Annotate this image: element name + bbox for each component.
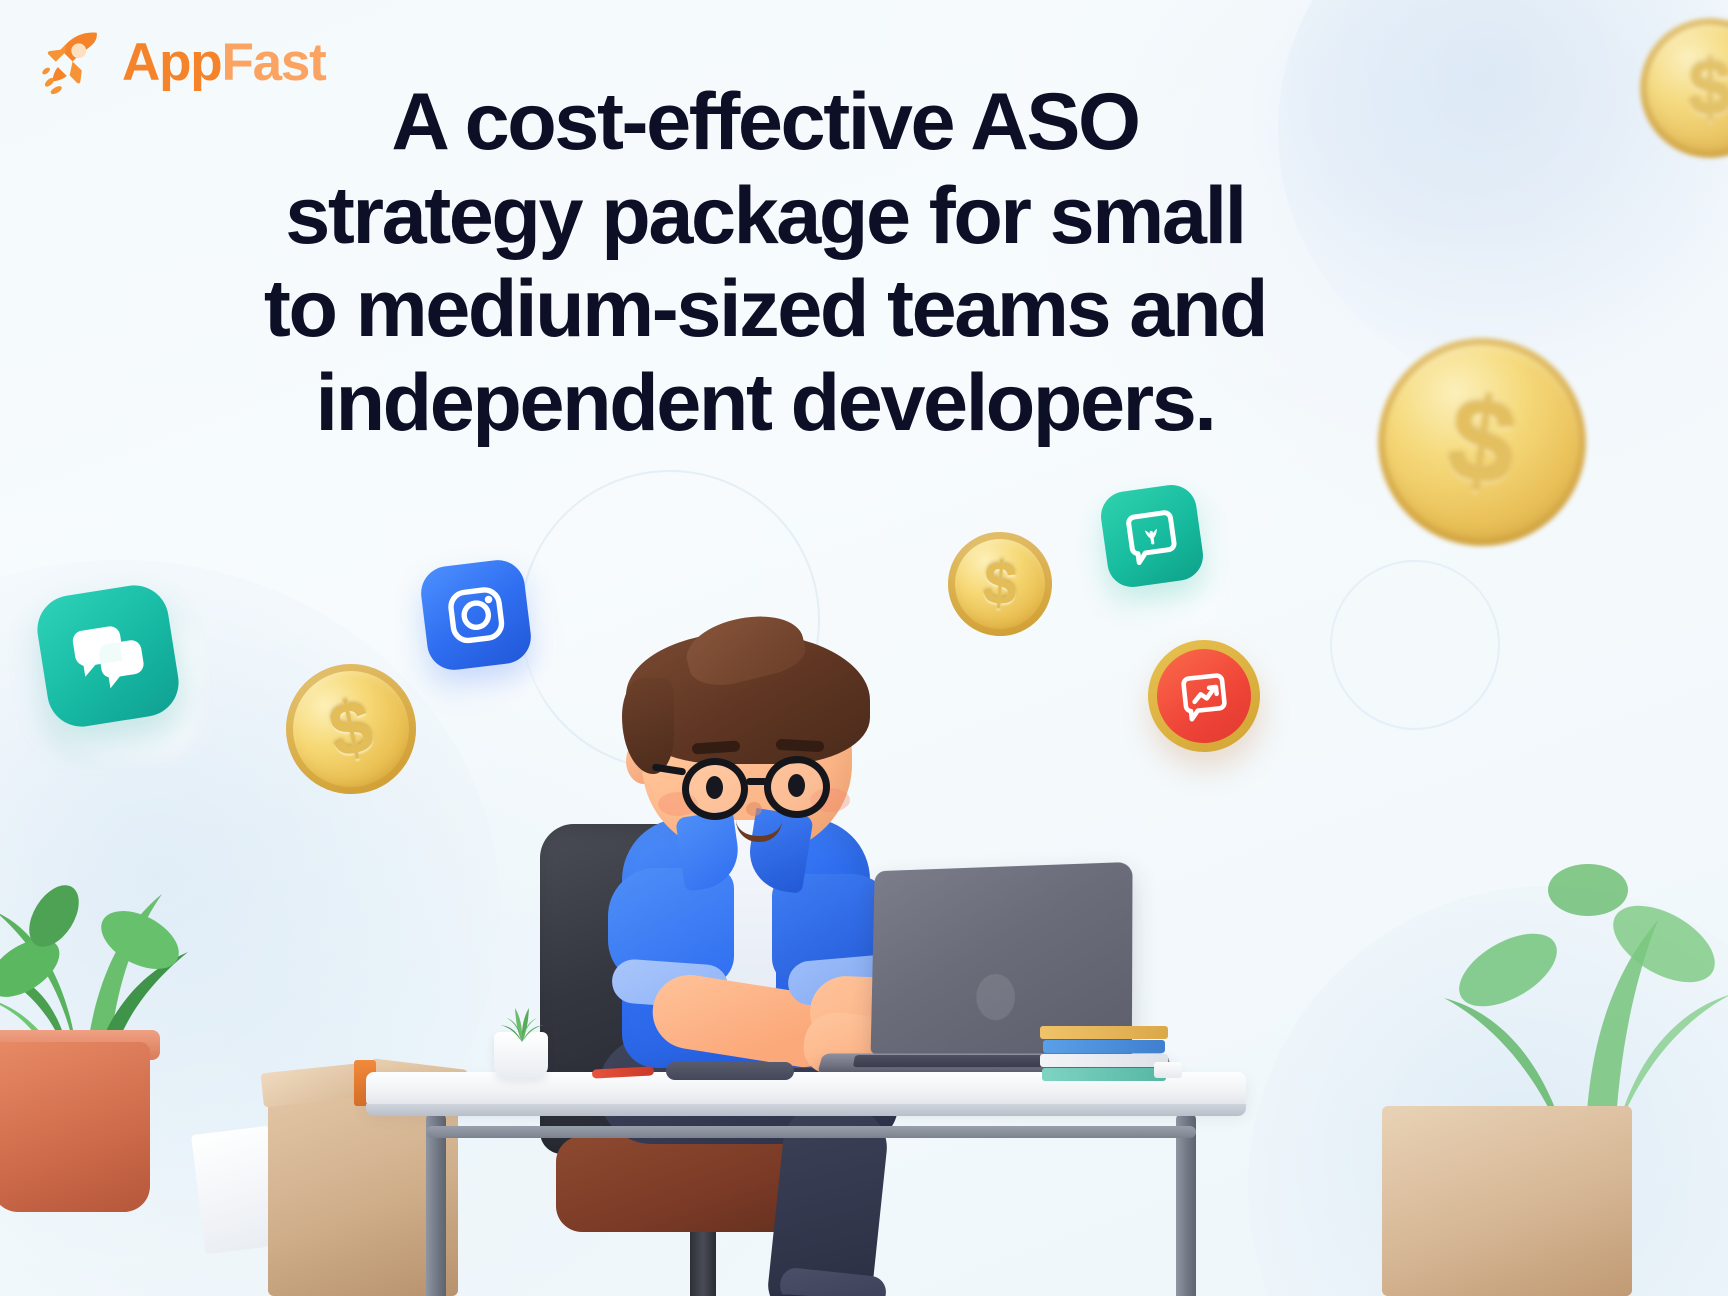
desk-scene xyxy=(0,596,1728,1296)
book-4 xyxy=(1042,1068,1166,1081)
book-1 xyxy=(1040,1026,1168,1039)
promo-poster: AppFast A cost-effective ASO strategy pa… xyxy=(0,0,1728,1296)
leaf-message-icon xyxy=(1098,482,1206,590)
headline-line-4: independent developers. xyxy=(210,357,1320,451)
mouse-pad xyxy=(666,1062,794,1080)
character-eye-left xyxy=(706,776,723,799)
character-nose xyxy=(746,802,762,816)
stacked-books xyxy=(1040,1026,1168,1080)
headline-line-1: A cost-effective ASO xyxy=(210,76,1320,170)
rocket-icon xyxy=(36,26,108,98)
desk-leg-right xyxy=(1176,1114,1196,1296)
brand-name-secondary: Fast xyxy=(221,33,325,92)
glasses-bridge xyxy=(746,778,768,785)
gold-coin-corner: $ xyxy=(1640,18,1728,158)
coin-rim xyxy=(1640,18,1728,158)
gold-coin-right: $ xyxy=(1365,325,1600,560)
eraser xyxy=(1154,1062,1182,1078)
desk-leg-left xyxy=(426,1114,446,1296)
page-title: A cost-effective ASO strategy package fo… xyxy=(210,76,1320,450)
brand-name-primary: App xyxy=(122,33,221,92)
brand-wordmark: AppFast xyxy=(122,36,326,89)
succulent-plant-icon xyxy=(486,988,558,1044)
character-eye-right xyxy=(788,774,805,797)
desk-brace xyxy=(426,1126,1196,1138)
leaf-bubble-glyph xyxy=(1118,502,1185,569)
headline-line-3: to medium-sized teams and xyxy=(210,263,1320,357)
brand-logo[interactable]: AppFast xyxy=(36,26,326,98)
book-2 xyxy=(1043,1040,1165,1053)
desk-edge xyxy=(366,1104,1246,1116)
book-3 xyxy=(1040,1054,1168,1067)
laptop-logo xyxy=(976,973,1015,1020)
coin-rim xyxy=(1365,325,1600,560)
headline-line-2: strategy package for small xyxy=(210,170,1320,264)
